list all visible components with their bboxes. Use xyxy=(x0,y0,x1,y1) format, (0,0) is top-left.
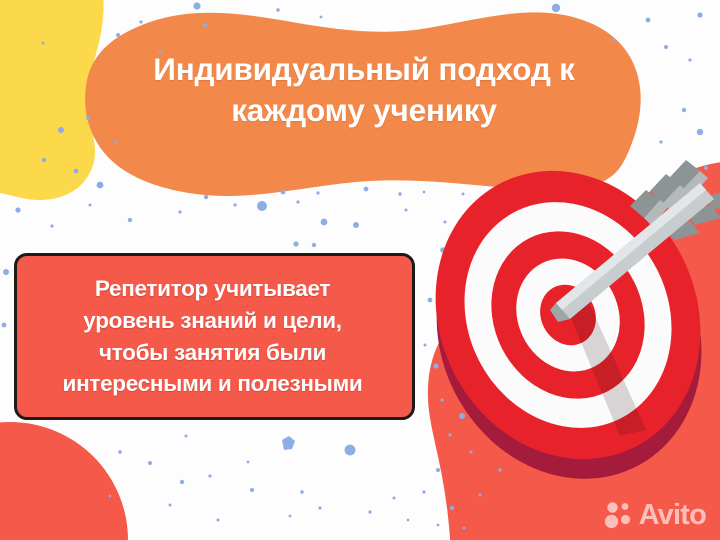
avito-logo-icon xyxy=(604,500,634,530)
promo-poster: Индивидуальный подход к каждому ученику … xyxy=(0,0,720,540)
callout-text: Репетитор учитывает уровень знаний и цел… xyxy=(13,273,412,401)
poster-title-text: Индивидуальный подход к каждому ученику xyxy=(114,49,614,131)
avito-wordmark: Avito xyxy=(639,501,706,530)
callout-box: Репетитор учитывает уровень знаний и цел… xyxy=(14,253,415,420)
avito-watermark: Avito xyxy=(604,500,706,530)
poster-title: Индивидуальный подход к каждому ученику xyxy=(88,16,640,164)
